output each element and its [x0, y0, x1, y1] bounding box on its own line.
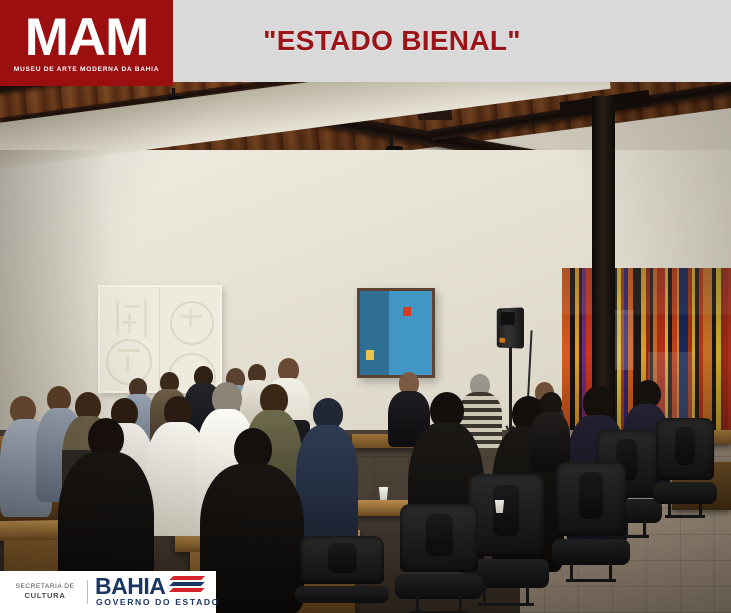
- mam-museum-logo: MAM MUSEU DE ARTE MODERNA DA BAHIA: [0, 0, 173, 86]
- relief-line: [118, 349, 140, 352]
- bahia-government-logo: BAHIA GOVERNO DO ESTADO: [95, 575, 207, 609]
- blue-painting: [357, 288, 435, 378]
- page-title: "ESTADO BIENAL": [173, 0, 731, 82]
- relief-line: [124, 305, 140, 308]
- office-chair: [656, 418, 714, 518]
- relief-line: [144, 299, 147, 337]
- secretaria-line2: CULTURA: [4, 591, 86, 600]
- yellow-square-motif: [366, 350, 374, 360]
- blue-painting-canvas: [360, 291, 432, 375]
- red-square-motif: [403, 307, 411, 316]
- office-chair: [556, 462, 626, 582]
- poster-container: MAM MUSEU DE ARTE MODERNA DA BAHIA "ESTA…: [0, 0, 731, 613]
- mam-subtitle: MUSEU DE ARTE MODERNA DA BAHIA: [14, 66, 159, 73]
- audience-person: [296, 398, 358, 548]
- bahia-wordmark: BAHIA: [95, 575, 165, 598]
- bahia-tagline: GOVERNO DO ESTADO: [96, 597, 220, 607]
- secretaria-line1: SECRETARIA DE: [4, 583, 86, 591]
- audience-person: [530, 392, 570, 472]
- event-photograph: [0, 0, 731, 613]
- relief-line: [189, 309, 192, 327]
- relief-line: [116, 301, 119, 335]
- page-title-text: "ESTADO BIENAL": [263, 25, 521, 57]
- office-chair: [400, 504, 478, 613]
- relief-line: [126, 355, 129, 373]
- footer-bar: SECRETARIA DE CULTURA BAHIA GOVERNO DO E…: [0, 571, 216, 613]
- pa-speaker: [497, 307, 524, 348]
- relief-circle: [170, 301, 214, 345]
- office-chair: [300, 536, 384, 613]
- relief-line: [122, 321, 136, 324]
- secretaria-cultura-logo: SECRETARIA DE CULTURA: [0, 583, 86, 601]
- bahia-flag-icon: [169, 576, 205, 595]
- mam-acronym: MAM: [25, 15, 149, 62]
- footer-divider: [87, 580, 88, 604]
